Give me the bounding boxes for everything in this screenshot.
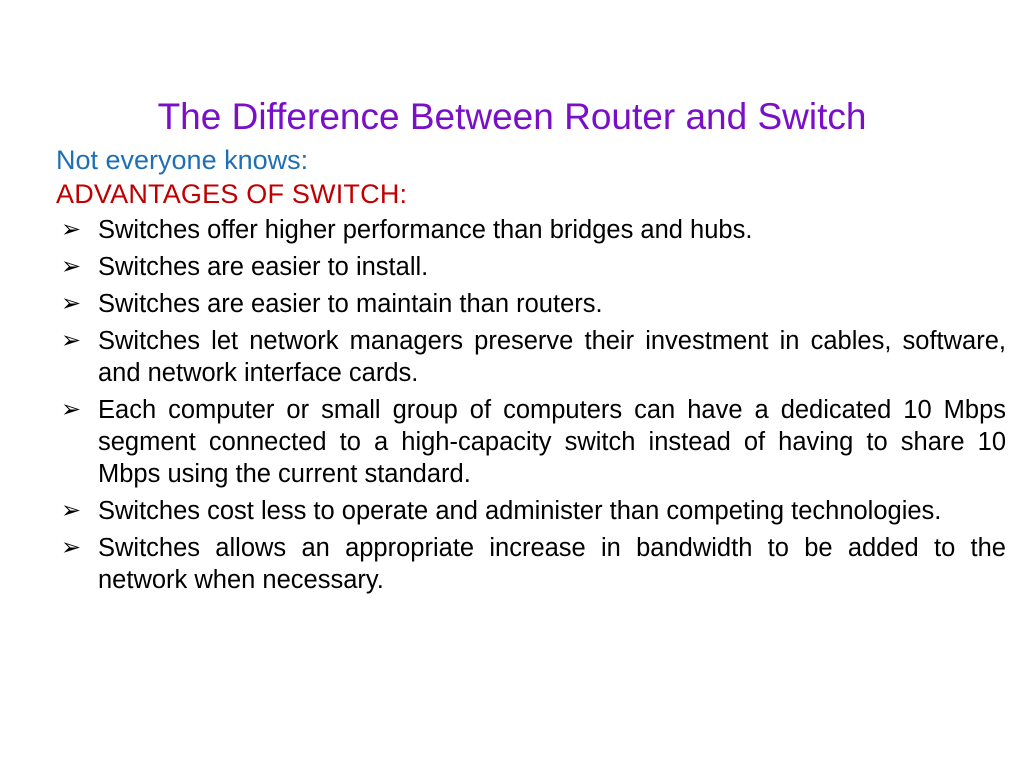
arrow-bullet-icon: ➢ xyxy=(61,251,87,283)
list-item: ➢ Switches let network managers preserve… xyxy=(56,325,970,389)
list-item: ➢ Switches are easier to install. xyxy=(56,251,970,283)
slide-canvas: The Difference Between Router and Switch… xyxy=(0,0,1024,768)
lead-line-not-everyone-knows: Not everyone knows: xyxy=(56,143,970,177)
arrow-bullet-icon: ➢ xyxy=(61,214,87,246)
list-item: ➢ Switches allows an appropriate increas… xyxy=(56,532,970,596)
list-item-label: Switches are easier to install. xyxy=(98,251,970,283)
list-item-label: Switches offer higher performance than b… xyxy=(98,214,970,246)
arrow-bullet-icon: ➢ xyxy=(61,288,87,320)
list-item: ➢ Each computer or small group of comput… xyxy=(56,394,970,490)
slide-body: Not everyone knows: ADVANTAGES OF SWITCH… xyxy=(56,143,970,601)
list-item: ➢ Switches cost less to operate and admi… xyxy=(56,495,970,527)
list-item-label: Switches cost less to operate and admini… xyxy=(98,495,1006,527)
arrow-bullet-icon: ➢ xyxy=(61,394,87,426)
lead-line-advantages-of-switch: ADVANTAGES OF SWITCH: xyxy=(56,177,970,211)
arrow-bullet-icon: ➢ xyxy=(61,325,87,357)
list-item-label: Each computer or small group of computer… xyxy=(98,394,1006,490)
list-item: ➢ Switches offer higher performance than… xyxy=(56,214,970,246)
arrow-bullet-icon: ➢ xyxy=(61,532,87,564)
list-item-label: Switches are easier to maintain than rou… xyxy=(98,288,970,320)
arrow-bullet-icon: ➢ xyxy=(61,495,87,527)
list-item: ➢ Switches are easier to maintain than r… xyxy=(56,288,970,320)
list-item-label: Switches allows an appropriate increase … xyxy=(98,532,1006,596)
page-title: The Difference Between Router and Switch xyxy=(0,95,1024,139)
advantages-bullet-list: ➢ Switches offer higher performance than… xyxy=(56,214,970,596)
list-item-label: Switches let network managers preserve t… xyxy=(98,325,1006,389)
